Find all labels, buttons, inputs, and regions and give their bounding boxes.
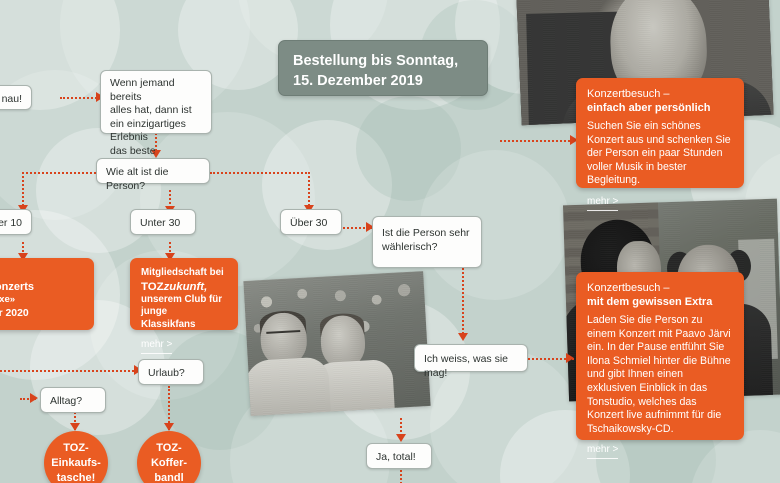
circle-line: tasche! bbox=[51, 471, 101, 483]
mehr-link[interactable]: mehr > bbox=[587, 195, 618, 211]
node-unter-30[interactable]: Unter 30 bbox=[130, 209, 196, 235]
card-body: Laden Sie die Person zu einem Konzert mi… bbox=[587, 314, 733, 436]
node-ueber-30[interactable]: Über 30 bbox=[280, 209, 342, 235]
node-line: Wenn jemand bereits bbox=[110, 77, 202, 104]
card-line: 2. Januar 2020 bbox=[0, 307, 83, 320]
node-unter-10-label: er 10 bbox=[0, 217, 22, 229]
deadline-line-1: Bestellung bis Sonntag, bbox=[293, 51, 473, 71]
node-waehlerisch[interactable]: Ist die Person sehr wählerisch? bbox=[372, 216, 482, 268]
mehr-link[interactable]: mehr > bbox=[587, 443, 618, 459]
card-title-1: Konzertbesuch – bbox=[587, 281, 733, 295]
node-unter-10[interactable]: er 10 bbox=[0, 209, 32, 235]
card-line: milienkonzerts bbox=[0, 280, 83, 294]
circle-line: bandl bbox=[151, 471, 187, 483]
node-unter-30-label: Unter 30 bbox=[140, 217, 180, 229]
card-title-2: einfach aber persönlich bbox=[587, 101, 733, 115]
card-tozzukunft[interactable]: Mitgliedschaft bei TOZzukunft, unserem C… bbox=[130, 258, 238, 330]
poster-canvas: nau! Wenn jemand bereits alles hat, dann… bbox=[0, 0, 780, 483]
node-ich-weiss-label: Ich weiss, was sie mag! bbox=[424, 353, 508, 379]
node-ich-weiss[interactable]: Ich weiss, was sie mag! bbox=[414, 344, 528, 372]
circle-line: TOZ- bbox=[51, 441, 101, 456]
node-line: alles hat, dann ist bbox=[110, 104, 202, 118]
card-brand-zukunft: zukunft, bbox=[164, 281, 208, 293]
card-line: Klassikfans bbox=[141, 319, 227, 332]
card-line: unserem Club für junge bbox=[141, 294, 227, 319]
node-alltag-label: Alltag? bbox=[50, 395, 82, 407]
card-line: kleine Hexe» bbox=[0, 294, 83, 307]
card-line: ch des bbox=[0, 267, 83, 280]
node-ja-total-label: Ja, total! bbox=[376, 451, 416, 463]
circle-line: TOZ- bbox=[151, 441, 187, 456]
concert-audience-photo bbox=[243, 271, 430, 416]
node-genau[interactable]: nau! bbox=[0, 85, 32, 110]
node-alltag[interactable]: Alltag? bbox=[40, 387, 106, 413]
circle-line: Koffer- bbox=[151, 456, 187, 471]
result-circle-kofferbandl[interactable]: TOZ- Koffer- bandl bbox=[137, 431, 201, 483]
node-genau-label: nau! bbox=[2, 93, 22, 105]
mehr-link[interactable]: mehr > bbox=[141, 338, 172, 354]
node-ueber-30-label: Über 30 bbox=[290, 217, 327, 229]
deadline-node: Bestellung bis Sonntag, 15. Dezember 201… bbox=[278, 40, 488, 96]
card-familienkonzert[interactable]: ch des milienkonzerts kleine Hexe» 2. Ja… bbox=[0, 258, 94, 330]
node-line: Ist die Person sehr bbox=[382, 227, 472, 241]
node-wenn-jemand[interactable]: Wenn jemand bereits alles hat, dann ist … bbox=[100, 70, 212, 134]
node-line: ein einzigartiges Erlebnis bbox=[110, 118, 202, 145]
card-brand-toz: TOZ bbox=[141, 281, 164, 293]
node-urlaub[interactable]: Urlaub? bbox=[138, 359, 204, 385]
card-konzertbesuch-persoenlich[interactable]: Konzertbesuch – einfach aber persönlich … bbox=[576, 78, 744, 188]
node-ja-total[interactable]: Ja, total! bbox=[366, 443, 432, 469]
card-body: Suchen Sie ein schönes Konzert aus und s… bbox=[587, 120, 733, 188]
card-title-1: Konzertbesuch – bbox=[587, 87, 733, 101]
node-wie-alt[interactable]: Wie alt ist die Person? bbox=[96, 158, 210, 184]
node-line: wählerisch? bbox=[382, 241, 472, 255]
card-line: Mitgliedschaft bei bbox=[141, 267, 227, 280]
card-title-2: mit dem gewissen Extra bbox=[587, 295, 733, 309]
deadline-line-2: 15. Dezember 2019 bbox=[293, 71, 473, 91]
circle-line: Einkaufs- bbox=[51, 456, 101, 471]
node-urlaub-label: Urlaub? bbox=[148, 367, 185, 379]
node-wie-alt-label: Wie alt ist die Person? bbox=[106, 166, 168, 192]
result-circle-einkaufstasche[interactable]: TOZ- Einkaufs- tasche! bbox=[44, 431, 108, 483]
card-konzertbesuch-extra[interactable]: Konzertbesuch – mit dem gewissen Extra L… bbox=[576, 272, 744, 440]
